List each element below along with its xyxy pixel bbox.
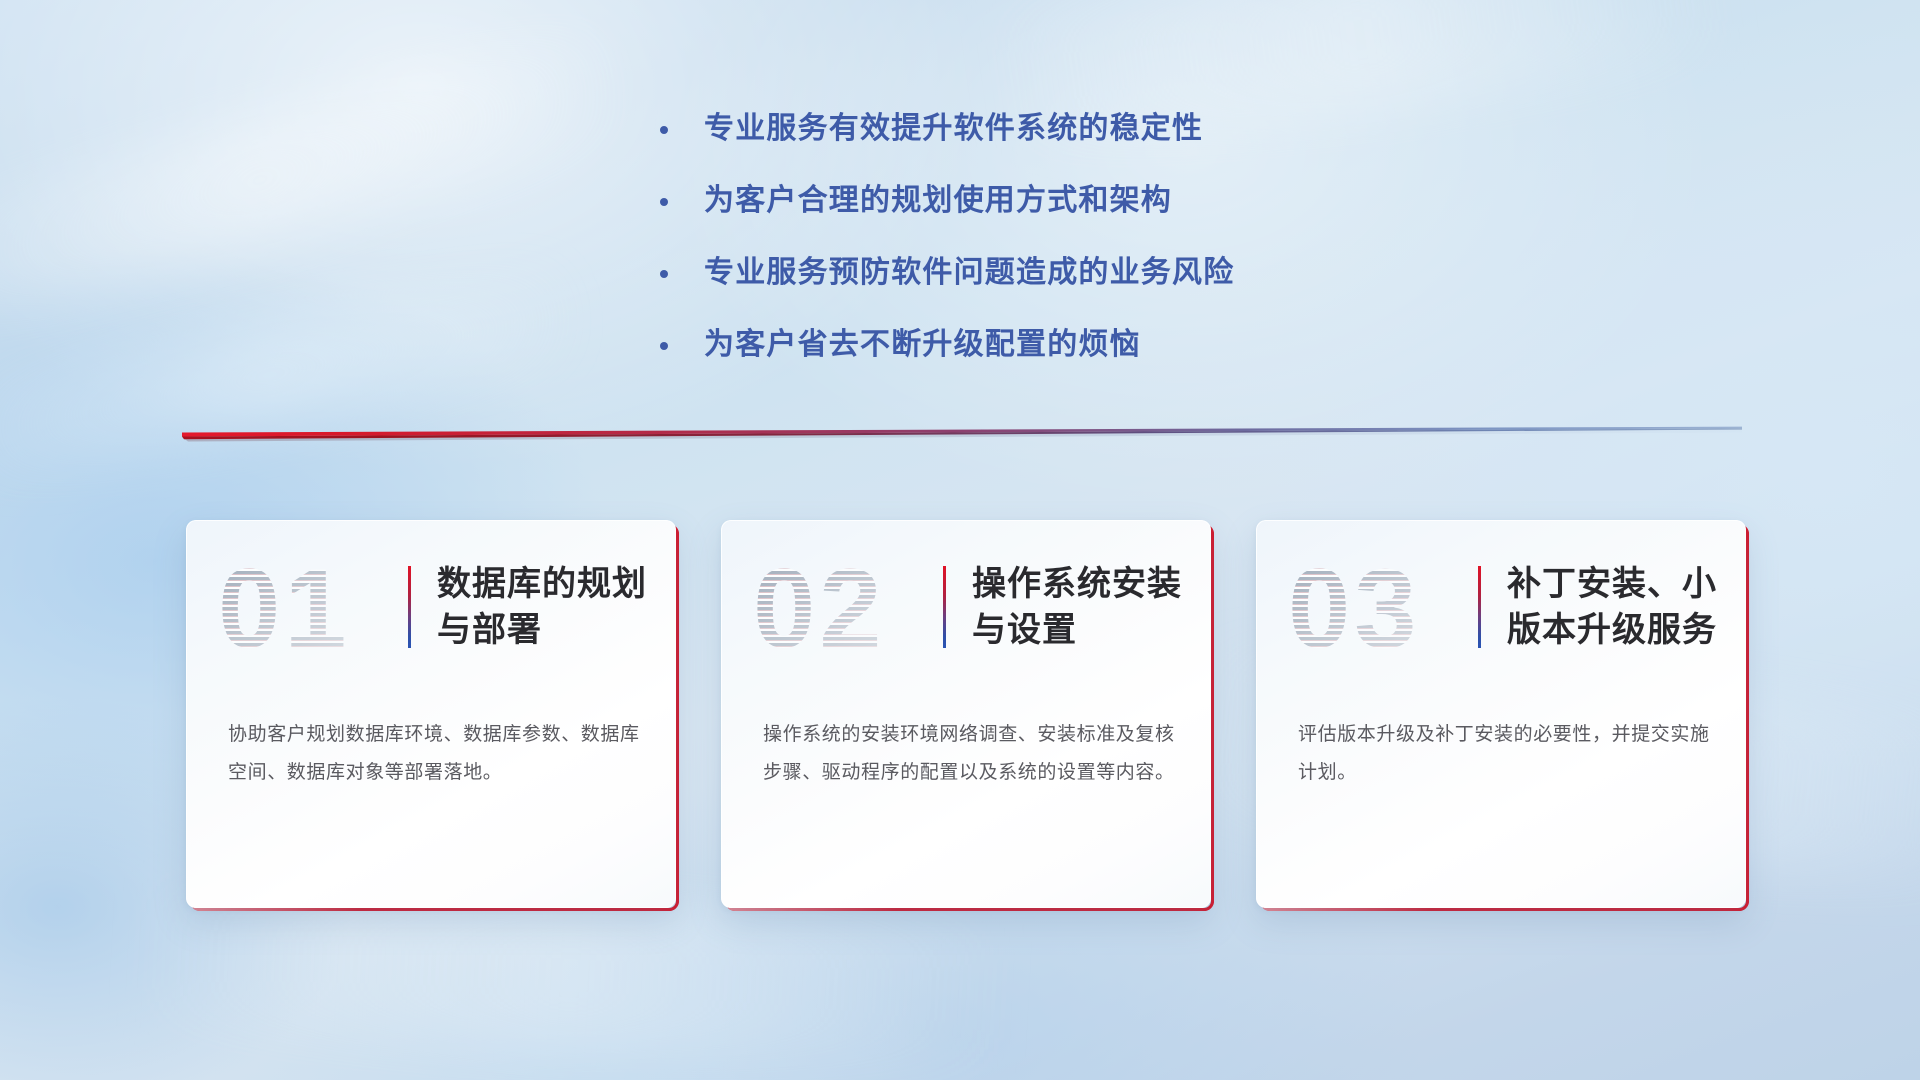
card-header: 02 操作系统安装与设置 [721,542,1211,672]
bullet-dot-icon [660,270,668,278]
bullet-text: 专业服务有效提升软件系统的稳定性 [704,108,1203,150]
card-surface: 03 补丁安装、小版本升级服务 评估版本升级及补丁安装的必要性，并提交实施计划。 [1256,520,1746,908]
card-number-glyph: 01 [218,547,351,667]
bullet-dot-icon [660,198,668,206]
bullet-text: 为客户省去不断升级配置的烦恼 [704,324,1141,366]
card-number-striped: 01 [214,547,404,667]
bullet-dot-icon [660,342,668,350]
service-card-03[interactable]: 03 补丁安装、小版本升级服务 评估版本升级及补丁安装的必要性，并提交实施计划。 [1256,520,1746,908]
card-surface: 02 操作系统安装与设置 操作系统的安装环境网络调查、安装标准及复核步骤、驱动程… [721,520,1211,908]
service-card-02[interactable]: 02 操作系统安装与设置 操作系统的安装环境网络调查、安装标准及复核步骤、驱动程… [721,520,1211,908]
service-card-row: 01 数据库的规划与部署 协助客户规划数据库环境、数据库参数、数据库空间、数据库… [186,520,1746,920]
list-item: 专业服务有效提升软件系统的稳定性 [660,108,1480,150]
card-surface: 01 数据库的规划与部署 协助客户规划数据库环境、数据库参数、数据库空间、数据库… [186,520,676,908]
card-title-rule [943,566,946,648]
card-number-striped: 03 [1284,547,1474,667]
card-title: 数据库的规划与部署 [437,561,676,653]
card-number-glyph: 03 [1288,547,1421,667]
card-number-striped: 02 [749,547,939,667]
service-card-01[interactable]: 01 数据库的规划与部署 协助客户规划数据库环境、数据库参数、数据库空间、数据库… [186,520,676,908]
section-divider [182,418,1742,444]
card-title-rule [408,566,411,648]
card-number-glyph: 02 [753,547,886,667]
card-description: 协助客户规划数据库环境、数据库参数、数据库空间、数据库对象等部署落地。 [228,716,642,792]
card-header: 03 补丁安装、小版本升级服务 [1256,542,1746,672]
card-description: 操作系统的安装环境网络调查、安装标准及复核步骤、驱动程序的配置以及系统的设置等内… [763,716,1177,792]
card-title-rule [1478,566,1481,648]
card-description: 评估版本升级及补丁安装的必要性，并提交实施计划。 [1298,716,1712,792]
card-title: 操作系统安装与设置 [972,561,1211,653]
list-item: 为客户省去不断升级配置的烦恼 [660,324,1480,366]
bullet-text: 专业服务预防软件问题造成的业务风险 [704,252,1234,294]
bullet-dot-icon [660,126,668,134]
bullet-text: 为客户合理的规划使用方式和架构 [704,180,1172,222]
list-item: 为客户合理的规划使用方式和架构 [660,180,1480,222]
list-item: 专业服务预防软件问题造成的业务风险 [660,252,1480,294]
benefits-bullet-list: 专业服务有效提升软件系统的稳定性 为客户合理的规划使用方式和架构 专业服务预防软… [660,108,1480,396]
card-title: 补丁安装、小版本升级服务 [1507,561,1746,653]
card-header: 01 数据库的规划与部署 [186,542,676,672]
